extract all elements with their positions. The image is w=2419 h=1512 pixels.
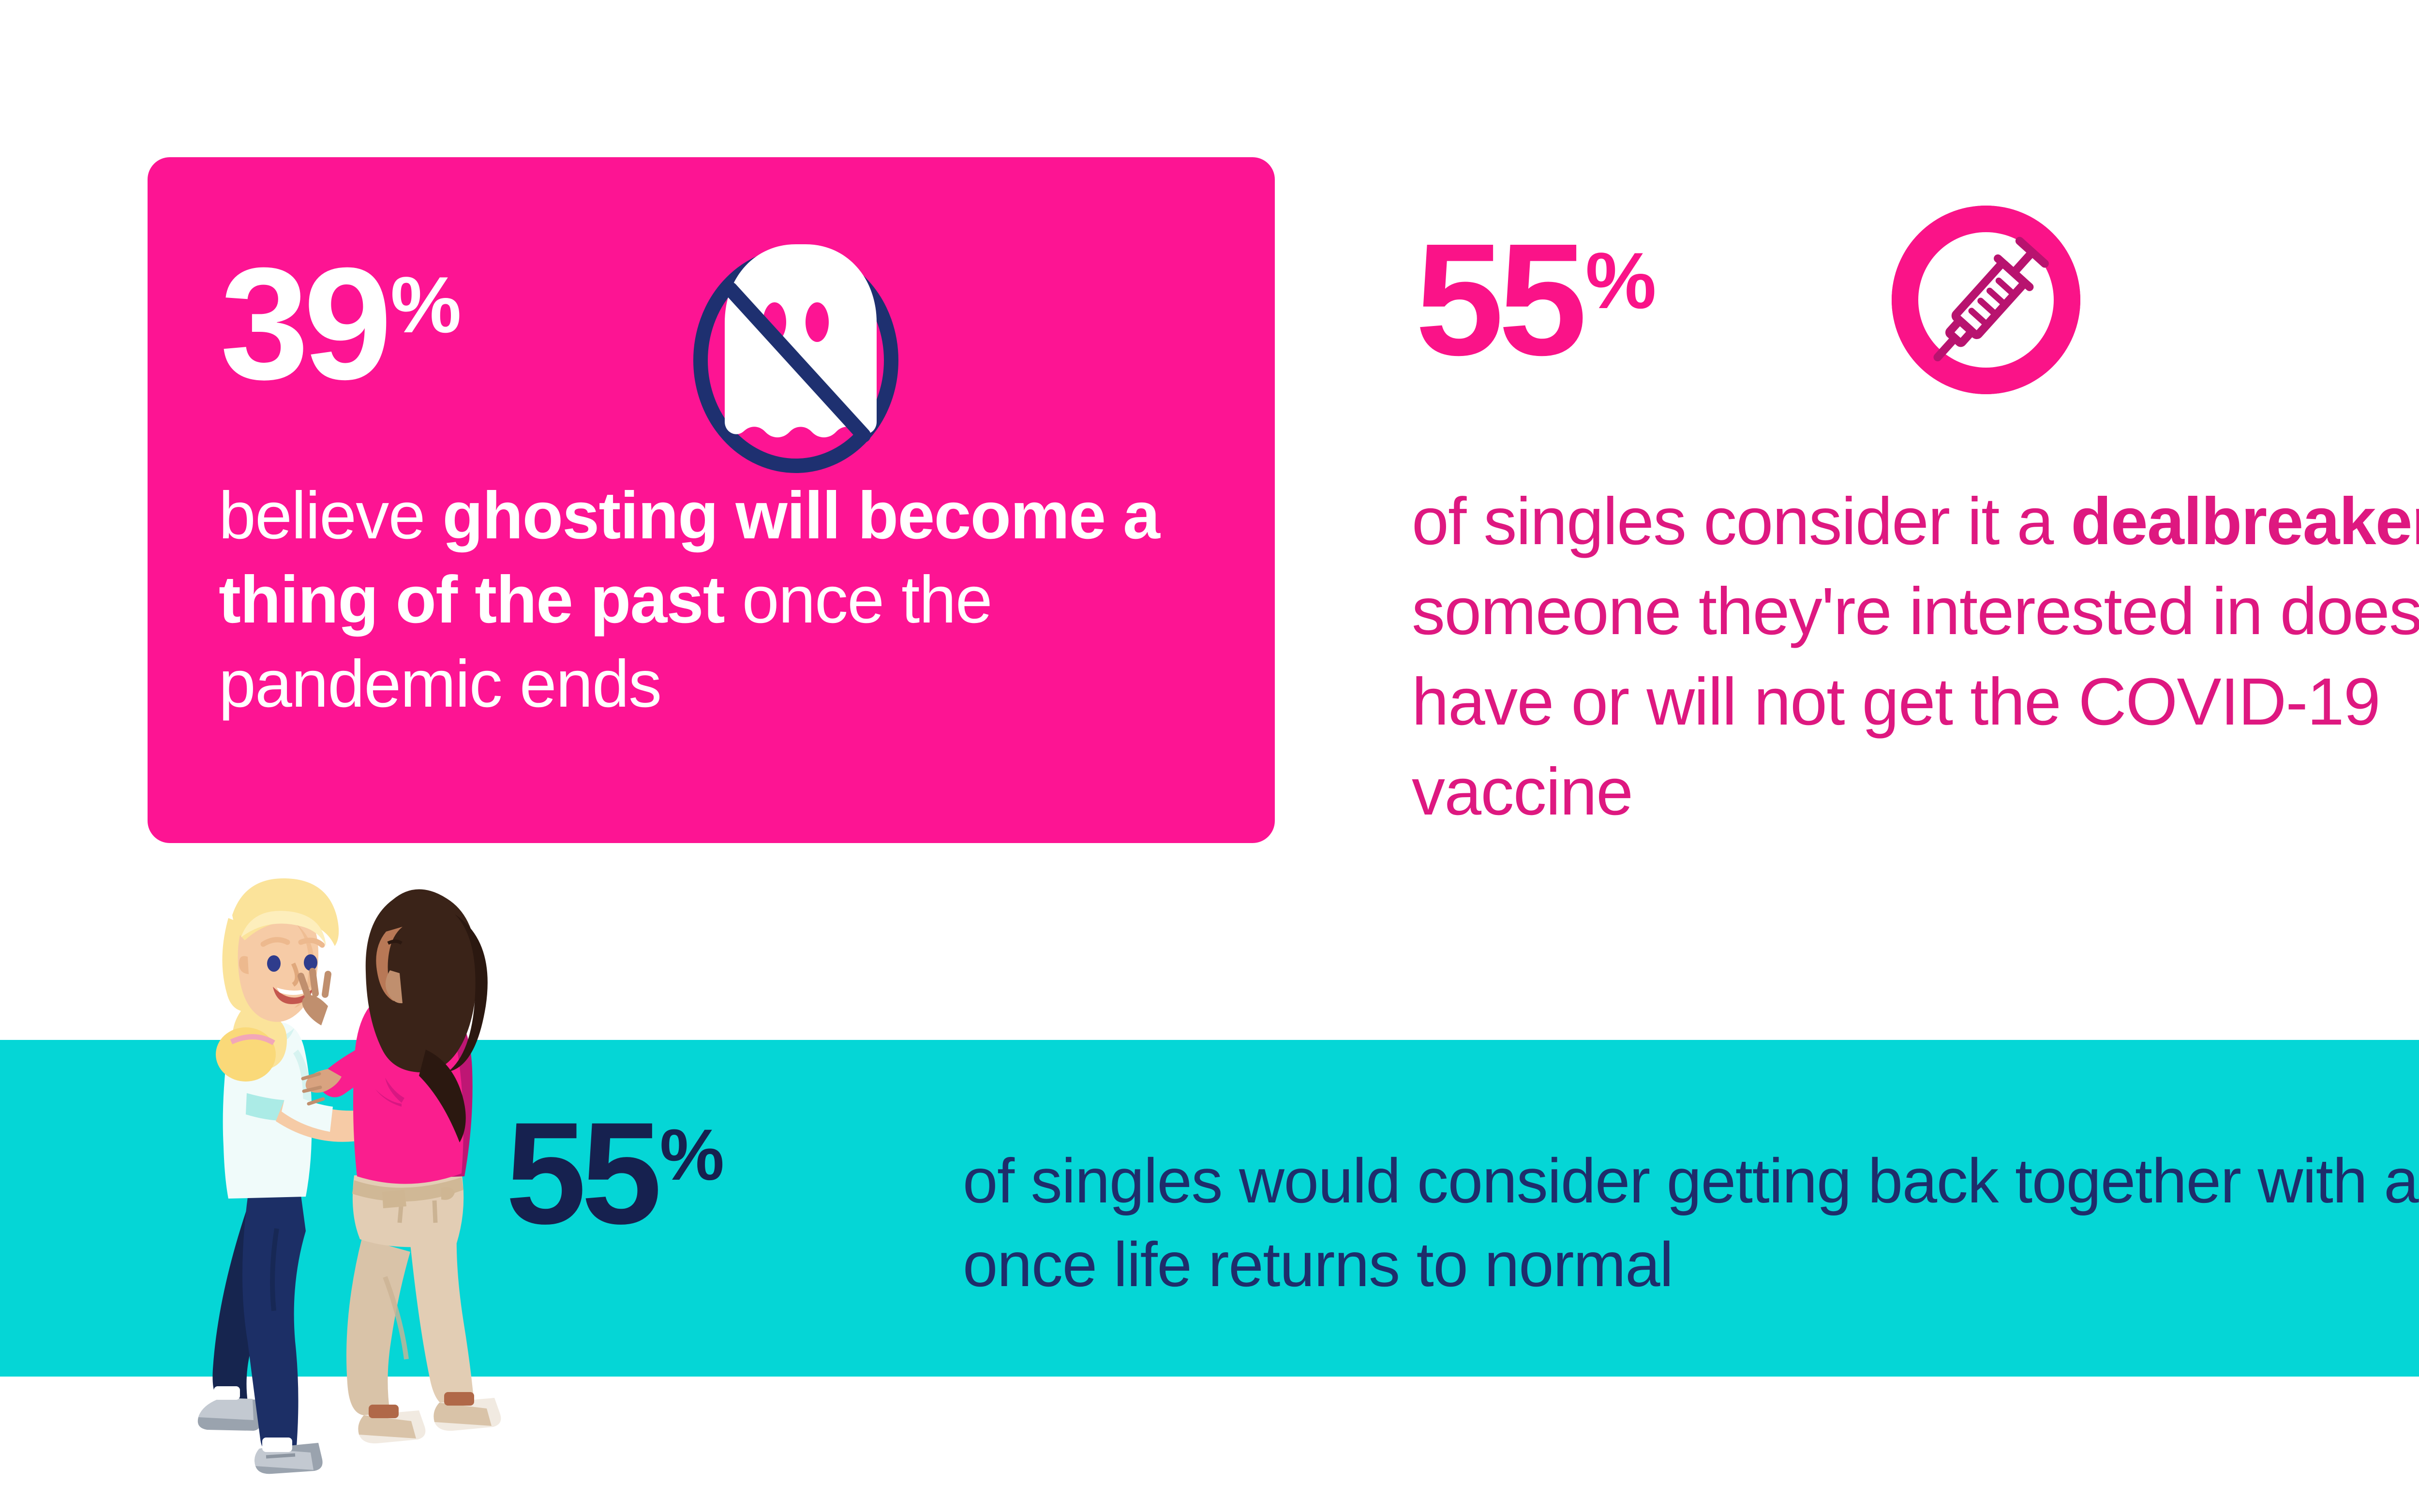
stat-body-ex: of singles would consider getting back t… — [963, 1139, 2419, 1306]
percent-symbol-ghosting: % — [390, 265, 462, 345]
ghost-crossed-out-icon — [670, 227, 922, 479]
vaccine-body-part-1: of singles consider it a — [1412, 484, 2071, 559]
ghosting-body-part-1: believe — [219, 478, 442, 553]
stat-number-ghosting: 39 — [220, 252, 387, 395]
percent-symbol-vaccine: % — [1585, 241, 1657, 321]
stat-body-vaccine: of singles consider it a dealbreaker if … — [1412, 476, 2419, 837]
percent-symbol-ex: % — [660, 1118, 724, 1191]
stat-value-vaccine: 55 % — [1415, 227, 1657, 371]
vaccine-body-part-2: dealbreaker — [2071, 484, 2419, 559]
two-women-illustration — [174, 842, 532, 1509]
stat-body-ghosting: believe ghosting will become a thing of … — [219, 474, 1191, 726]
stat-number-vaccine: 55 — [1415, 227, 1582, 371]
infographic-canvas: 39 % believe ghosting will become a thin… — [0, 0, 2419, 1512]
stat-value-ghosting: 39 % — [220, 252, 462, 395]
stat-value-ex: 55 % — [506, 1108, 724, 1238]
syringe-donut-icon — [1882, 196, 2090, 404]
